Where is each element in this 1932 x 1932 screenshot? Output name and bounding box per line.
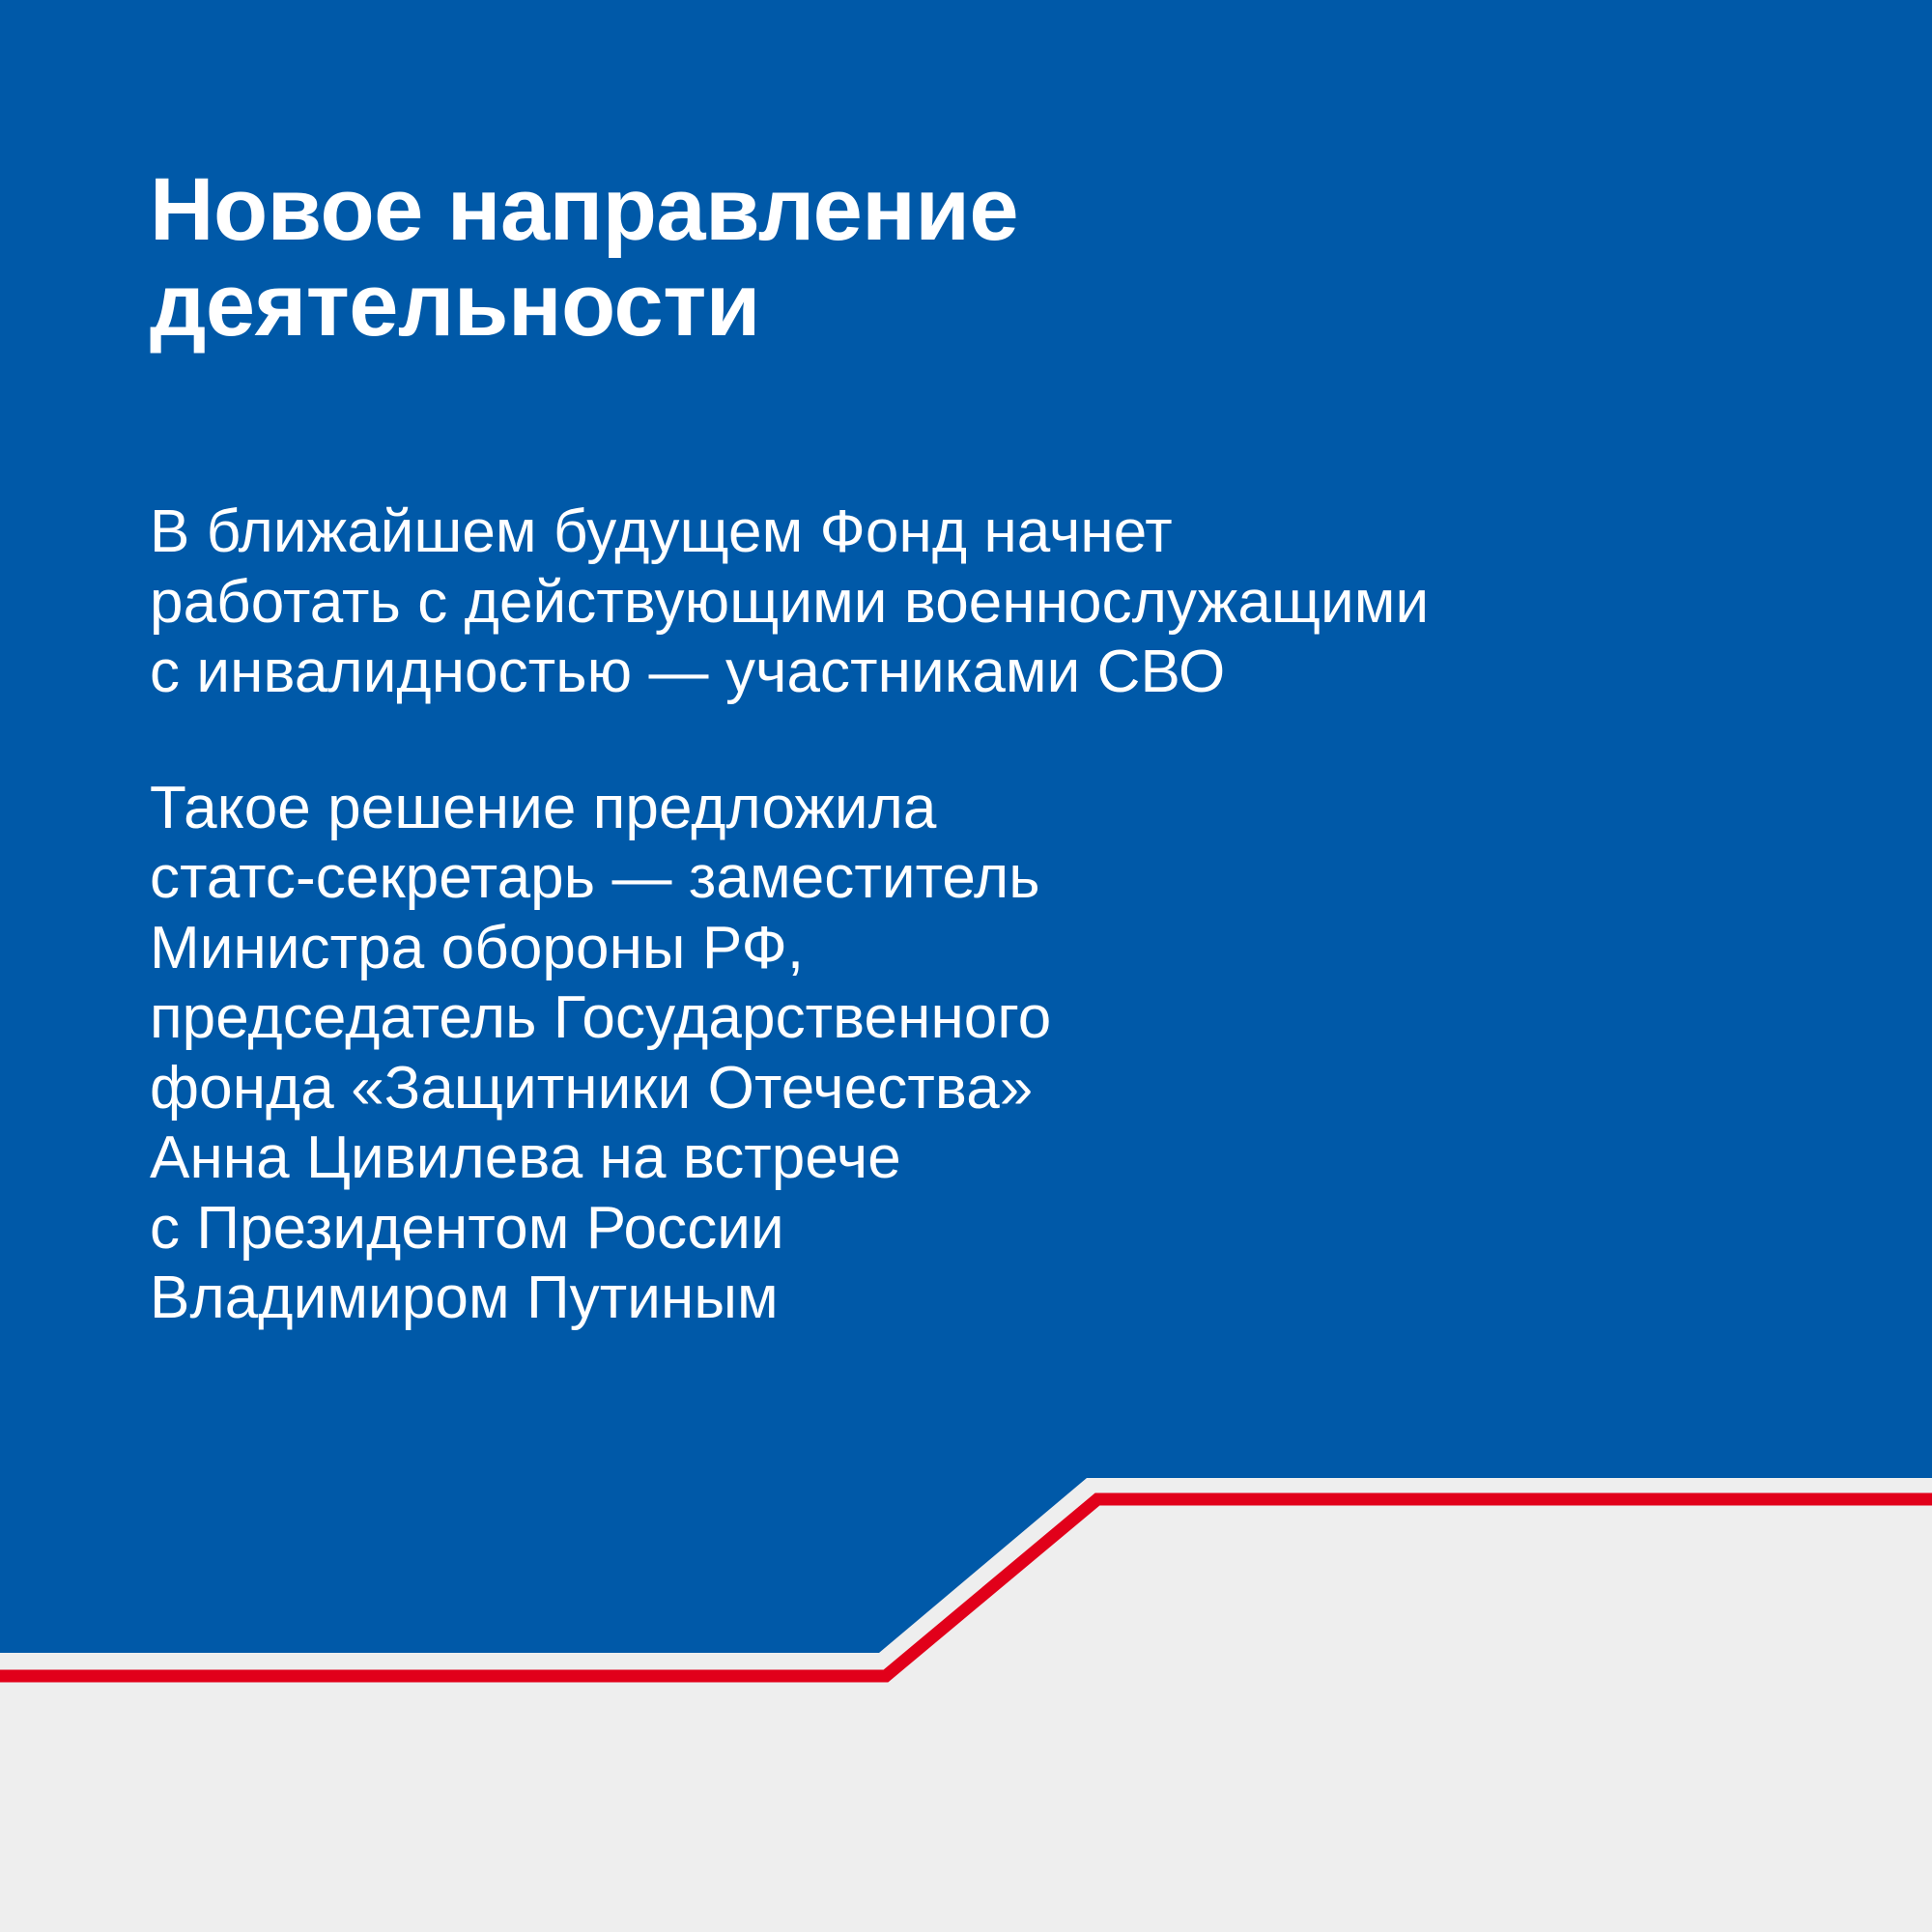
content-layer: Новое направление деятельности В ближайш… xyxy=(0,0,1932,1932)
paragraph-line: Такое решение предложила xyxy=(150,774,1811,844)
paragraph-line: фонда «Защитники Отечества» xyxy=(150,1054,1811,1124)
page-title-line-1: Новое направление xyxy=(150,162,1406,258)
body-text: В ближайшем будущем Фонд начнет работать… xyxy=(150,497,1811,1334)
paragraph-line: работать с действующими военнослужащими xyxy=(150,568,1811,639)
paragraph-decision-author: Такое решение предложила статс-секретарь… xyxy=(150,774,1811,1334)
slide-canvas: Новое направление деятельности В ближайш… xyxy=(0,0,1932,1932)
page-title: Новое направление деятельности xyxy=(150,162,1406,355)
paragraph-line: с Президентом России xyxy=(150,1194,1811,1264)
paragraph-new-direction: В ближайшем будущем Фонд начнет работать… xyxy=(150,497,1811,708)
paragraph-line: Анна Цивилева на встрече xyxy=(150,1123,1811,1194)
paragraph-line: статс-секретарь — заместитель xyxy=(150,843,1811,914)
page-title-line-2: деятельности xyxy=(150,258,1406,354)
paragraph-line: председатель Государственного xyxy=(150,983,1811,1054)
paragraph-line: Владимиром Путиным xyxy=(150,1264,1811,1334)
paragraph-line: Министра обороны РФ, xyxy=(150,914,1811,984)
paragraph-line: В ближайшем будущем Фонд начнет xyxy=(150,497,1811,568)
paragraph-line: с инвалидностью — участниками СВО xyxy=(150,638,1811,708)
